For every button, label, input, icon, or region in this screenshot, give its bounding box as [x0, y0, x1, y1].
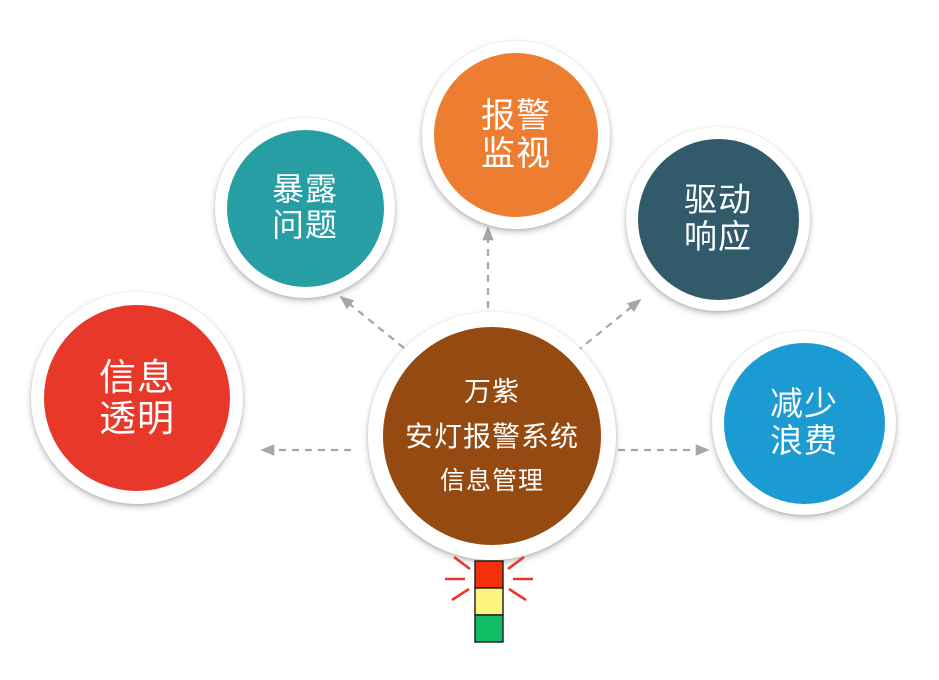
andon-spark-left	[445, 557, 470, 600]
arrow-hub-to-expose	[341, 297, 404, 348]
andon-lamp-red-icon	[475, 561, 503, 588]
diagram-canvas: 暴露 问题 报警 监视 驱动 响应 信息 透明 减少 浪费 万紫 安	[0, 0, 939, 680]
node-reduce-waste-line-1: 减少	[770, 386, 838, 423]
node-reduce-waste-line-2: 浪费	[770, 423, 838, 460]
node-alarm-monitoring-line-1: 报警	[481, 97, 551, 135]
node-reduce-waste[interactable]: 减少 浪费	[712, 331, 896, 515]
node-alarm-monitoring-line-2: 监视	[481, 135, 551, 173]
node-alarm-monitoring-disc: 报警 监视	[434, 53, 598, 217]
node-drive-response-disc: 驱动 响应	[638, 139, 799, 300]
node-expose-problems-disc: 暴露 问题	[227, 130, 384, 287]
node-expose-problems-line-2: 问题	[272, 208, 338, 244]
node-drive-response[interactable]: 驱动 响应	[626, 127, 810, 311]
node-hub-line-1: 万紫	[464, 377, 520, 407]
node-information-transparency-disc: 信息 透明	[44, 305, 230, 491]
node-drive-response-line-1: 驱动	[684, 182, 752, 219]
andon-lamp-yellow-icon	[475, 588, 503, 615]
node-drive-response-line-2: 响应	[684, 219, 752, 256]
node-reduce-waste-disc: 减少 浪费	[724, 343, 885, 504]
andon-lamp-green-icon	[475, 615, 503, 642]
andon-spark-right	[508, 557, 533, 600]
node-hub-line-2: 安灯报警系统	[405, 421, 579, 452]
arrow-hub-to-drive	[576, 300, 640, 352]
node-information-transparency-line-1: 信息	[99, 357, 175, 398]
node-alarm-monitoring[interactable]: 报警 监视	[422, 41, 610, 229]
node-expose-problems[interactable]: 暴露 问题	[215, 118, 395, 298]
node-andon-alarm-system-hub[interactable]: 万紫 安灯报警系统 信息管理	[368, 312, 616, 560]
node-expose-problems-line-1: 暴露	[272, 172, 338, 208]
node-information-transparency[interactable]: 信息 透明	[31, 292, 243, 504]
andon-light-tower	[437, 542, 541, 652]
node-hub-disc: 万紫 安灯报警系统 信息管理	[383, 327, 601, 545]
node-information-transparency-line-2: 透明	[99, 398, 175, 439]
node-hub-line-3: 信息管理	[440, 467, 544, 495]
